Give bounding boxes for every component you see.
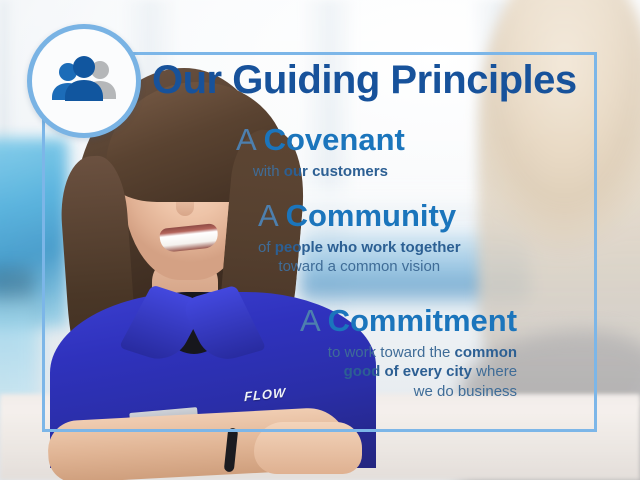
- text-fragment-bold: common: [455, 344, 518, 361]
- principle-commitment-heading: A Commitment: [300, 305, 517, 338]
- principle-commitment: A Commitment to work toward the common g…: [300, 305, 517, 402]
- text-fragment: where: [472, 363, 517, 380]
- text-fragment: with: [253, 163, 284, 180]
- principle-community-subtext: of people who work together toward a com…: [258, 238, 461, 278]
- text-fragment: to work toward the: [328, 344, 455, 361]
- text-fragment: of: [258, 239, 275, 256]
- principle-covenant: A Covenant with our customers: [236, 124, 405, 181]
- people-group-icon: [48, 55, 120, 107]
- people-group-badge: [27, 24, 141, 138]
- principle-covenant-line-1: with our customers: [236, 162, 405, 182]
- principle-community: A Community of people who work together …: [258, 200, 461, 277]
- text-fragment-bold: good of every city: [344, 363, 472, 380]
- principle-commitment-keyword: Commitment: [328, 303, 517, 338]
- principle-covenant-heading: A Covenant: [236, 124, 405, 157]
- text-fragment-bold: our customers: [284, 163, 388, 180]
- principle-commitment-line-1: to work toward the common: [300, 343, 517, 363]
- principle-community-line-2: toward a common vision: [258, 257, 461, 277]
- text-fragment-bold: people who work together: [275, 239, 461, 256]
- principle-covenant-keyword: Covenant: [264, 122, 405, 157]
- principle-commitment-subtext: to work toward the common good of every …: [300, 343, 517, 402]
- guiding-principles-poster: FLOW FLOW Our Guiding Principles A Coven…: [0, 0, 640, 480]
- principle-commitment-line-3: we do business: [300, 382, 517, 402]
- principle-community-heading: A Community: [258, 200, 461, 233]
- principle-community-keyword: Community: [286, 198, 457, 233]
- principle-commitment-line-2: good of every city where: [300, 362, 517, 382]
- principle-covenant-article: A: [236, 122, 264, 157]
- principle-commitment-article: A: [300, 303, 328, 338]
- principle-covenant-subtext: with our customers: [236, 162, 405, 182]
- principle-community-article: A: [258, 198, 286, 233]
- principle-community-line-1: of people who work together: [258, 238, 461, 258]
- page-title: Our Guiding Principles: [152, 58, 577, 103]
